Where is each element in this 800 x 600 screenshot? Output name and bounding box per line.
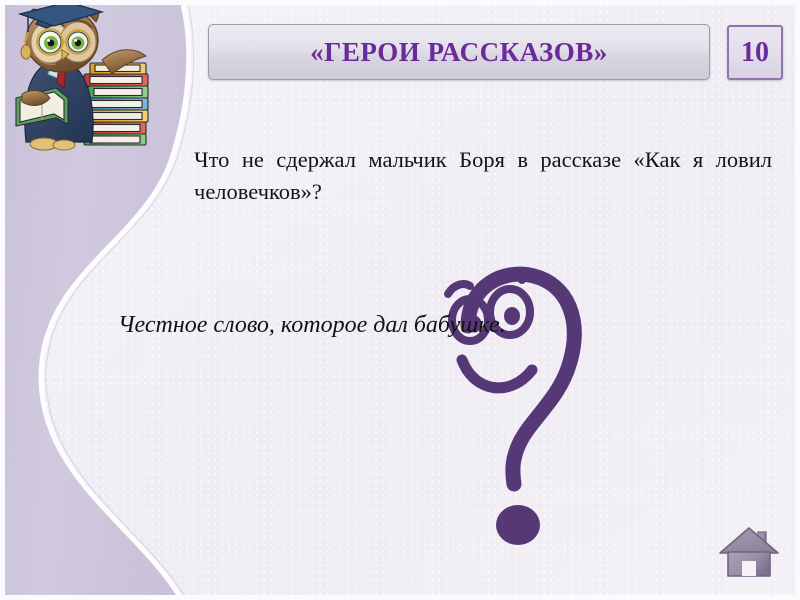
score-badge[interactable]: 10 [727,25,783,80]
home-button[interactable] [716,521,782,583]
page-title: «ГЕРОИ РАССКАЗОВ» [310,37,608,68]
smiling-question-mark-icon [428,258,628,558]
quiz-slide: «ГЕРОИ РАССКАЗОВ» 10 [0,0,800,600]
owl-graduate-mascot-icon [6,2,156,162]
question-text: Что не сдержал мальчик Боря в рассказе «… [194,144,772,240]
score-value: 10 [741,37,769,69]
answer-text: Честное слово, которое дал бабушке. [118,310,718,340]
slide-title-bar: «ГЕРОИ РАССКАЗОВ» [208,24,710,80]
